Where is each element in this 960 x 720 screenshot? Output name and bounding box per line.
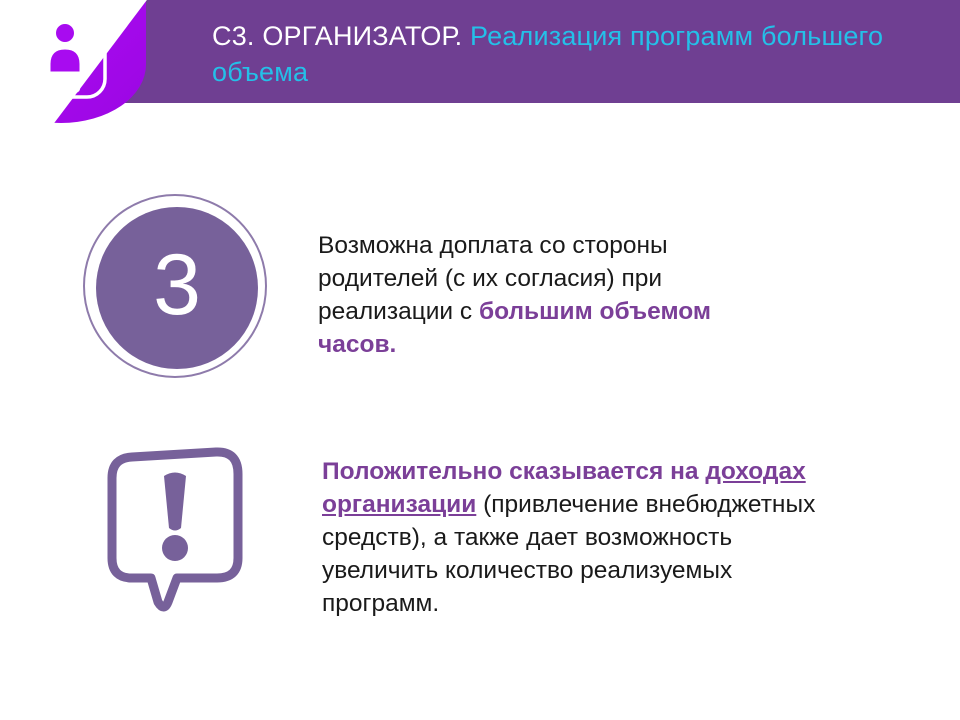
page-title-primary: С3. ОРГАНИЗАТОР. (212, 21, 462, 51)
circle-fill: 3 (96, 207, 258, 369)
body-paragraph-1: Возможна доплата со стороны родителей (с… (318, 229, 788, 361)
body-paragraph-2: Положительно сказывается на доходах орга… (322, 455, 822, 620)
page-title: С3. ОРГАНИЗАТОР. Реализация программ бол… (212, 18, 942, 90)
circle-number-label: 3 (153, 242, 201, 328)
slide-canvas: С3 С3. ОРГАНИЗАТОР. Реализация программ … (0, 0, 960, 720)
people-group-icon: С3 (22, 2, 108, 100)
exclamation-stem (164, 473, 186, 531)
paragraph-2-accent-lead: Положительно сказывается на (322, 458, 705, 485)
numbered-circle-marker: 3 (83, 194, 271, 382)
badge-label-text: С3 (49, 71, 81, 99)
exclamation-speech-bubble-icon (92, 440, 260, 620)
exclamation-dot (162, 535, 188, 561)
